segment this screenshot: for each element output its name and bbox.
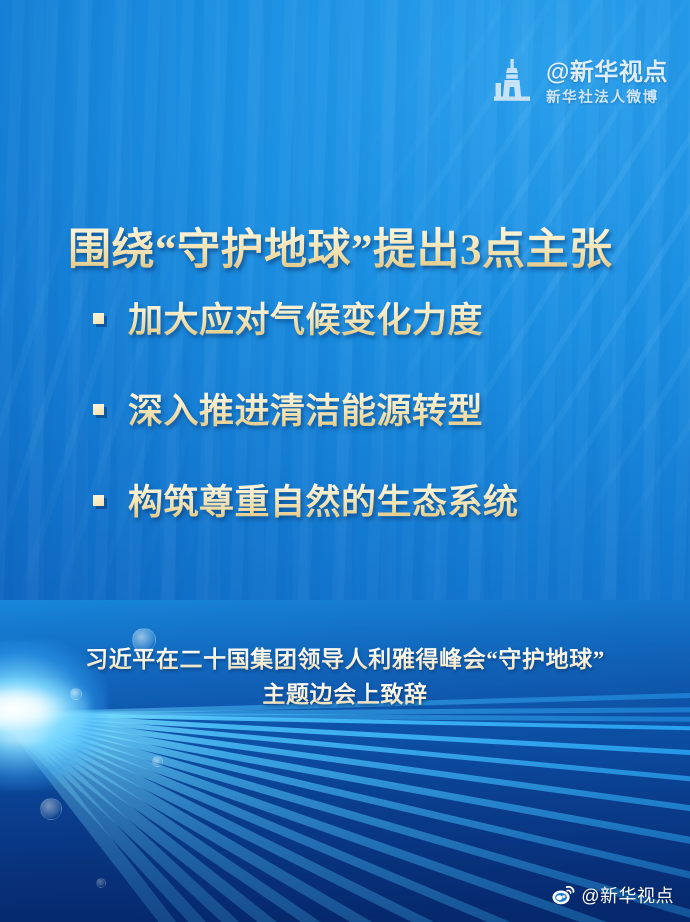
bullet-list: 加大应对气候变化力度 深入推进清洁能源转型 构筑尊重自然的生态系统 (93, 292, 519, 525)
bullet-label: 加大应对气候变化力度 (128, 292, 483, 343)
logo-subtitle: 新华社法人微博 (546, 91, 668, 106)
caption-line-1: 习近平在二十国集团领导人利雅得峰会“守护地球” (0, 643, 690, 678)
logo-text-block: @新华视点 新华社法人微博 (546, 61, 668, 106)
logo-handle: @新华视点 (546, 61, 668, 85)
weibo-icon (552, 885, 575, 905)
xinhua-logo: @新华视点 新华社法人微博 (489, 58, 668, 108)
bullet-label: 构筑尊重自然的生态系统 (128, 474, 519, 525)
poster-root: @新华视点 新华社法人微博 围绕“守护地球”提出3点主张 加大应对气候变化力度 … (0, 0, 690, 922)
xinhua-monument-logo-icon (489, 58, 537, 108)
square-bullet-icon (93, 313, 104, 324)
list-item: 深入推进清洁能源转型 (93, 383, 519, 434)
bokeh-dot (40, 798, 62, 820)
weibo-watermark: @新华视点 (552, 882, 674, 908)
bullet-label: 深入推进清洁能源转型 (128, 383, 483, 434)
square-bullet-icon (93, 404, 104, 415)
caption-line-2: 主题边会上致辞 (0, 678, 690, 713)
watermark-label: @新华视点 (581, 882, 674, 908)
caption: 习近平在二十国集团领导人利雅得峰会“守护地球” 主题边会上致辞 (0, 643, 690, 713)
square-bullet-icon (93, 495, 104, 506)
bokeh-dot (152, 756, 163, 767)
bokeh-dot (96, 878, 106, 888)
list-item: 加大应对气候变化力度 (93, 292, 519, 343)
list-item: 构筑尊重自然的生态系统 (93, 474, 519, 525)
headline: 围绕“守护地球”提出3点主张 (68, 215, 613, 277)
